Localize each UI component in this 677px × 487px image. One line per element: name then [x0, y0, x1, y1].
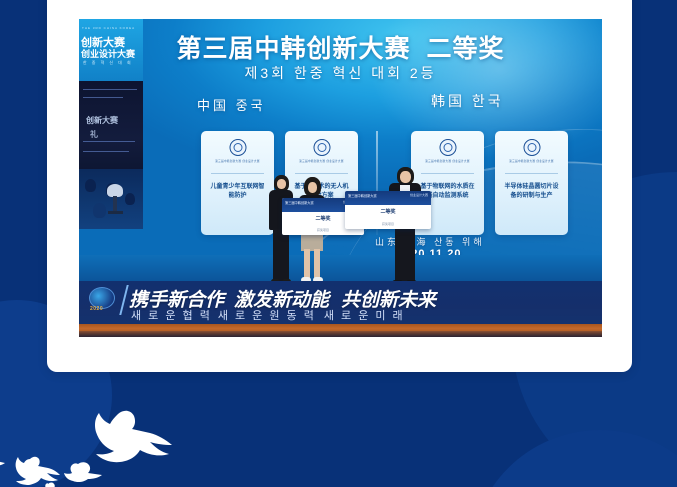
- panel-seal-icon: [229, 139, 246, 156]
- background-circle-right-lower: [470, 430, 677, 487]
- banner-slogan-korean: 새 로 운 협 력새 로 운 원 동 력새 로 운 미 래: [131, 307, 601, 323]
- panel-title: 儿童青少年互联网智能防护: [208, 183, 267, 201]
- panel-seal-caption: 第三届中韩创新大赛 创业设计大赛: [419, 160, 476, 164]
- panel-seal-icon: [523, 139, 540, 156]
- headline-award: 二等奖: [427, 35, 505, 63]
- panel-divider: [211, 173, 264, 174]
- panel-seal-icon: [313, 139, 330, 156]
- banner-slogan-korean-3: 새 로 운 미 래: [324, 310, 405, 322]
- photo-headline: 第三届中韩创新大赛二等奖: [79, 29, 602, 65]
- headline-chinese: 第三届中韩创新大赛: [176, 35, 410, 63]
- panel-seal-icon: [439, 139, 456, 156]
- panel-divider: [421, 173, 474, 174]
- stage-strip-shadow: [79, 331, 602, 337]
- panel-divider: [295, 173, 348, 174]
- logo-year-label: 2020: [90, 306, 103, 312]
- certificate-header-bar: 第三届中韩创新大赛 创业设计大赛: [345, 191, 431, 205]
- banner-slogan-korean-1: 새 로 운 협 력: [131, 310, 212, 322]
- photo-headline-korean: 제3회 한중 혁신 대회 2등: [79, 63, 602, 83]
- award-ceremony-photo[interactable]: THE 3RD CHINA KOREA 创新大赛 创业设计大赛 한 중 혁 신 …: [79, 19, 602, 337]
- award-certificate: 第三届中韩创新大赛 创业设计大赛 二等奖 获奖项目: [345, 191, 431, 229]
- country-label-korea: 韩国 한국: [431, 91, 504, 111]
- certificate-header-right: 创业设计大赛: [410, 193, 428, 197]
- stage-side-screen: 创新大赛 礼: [79, 81, 143, 177]
- panel-seal-caption: 第三届中韩创新大赛 创业设计大赛: [503, 160, 560, 164]
- certificate-header-left: 第三届中韩创新大赛: [348, 193, 377, 198]
- competition-logo-icon: 2020: [89, 287, 119, 317]
- certificate-header-left: 第三届中韩创新大赛: [285, 200, 314, 205]
- flying-doves-graphic: [0, 396, 216, 487]
- panel-seal-caption: 第三届中韩创新大赛 创业设计大赛: [209, 160, 266, 164]
- panel-title: 半导体硅晶圆切片设备的研制与生产: [502, 183, 561, 201]
- certificate-award-text: 二等奖: [345, 208, 431, 215]
- country-label-china: 中国 중국: [197, 95, 266, 114]
- screen-logo-line-1: 创新大赛: [86, 115, 118, 126]
- project-panel: 第三届中韩创新大赛 创业设计大赛 半导体硅晶圆切片设备的研制与生产: [495, 131, 568, 235]
- certificate-sub-text: 获奖项目: [345, 222, 431, 226]
- banner-slogan-korean-2: 새 로 운 원 동 력: [218, 310, 316, 322]
- page-root: THE 3RD CHINA KOREA 创新大赛 创业设计大赛 한 중 혁 신 …: [0, 0, 677, 487]
- stage-spotlight: [107, 184, 129, 224]
- project-panel: 第三届中韩创新大赛 创业设计大赛 儿童青少年互联网智能防护: [201, 131, 274, 235]
- panel-seal-caption: 第三届中韩创新大赛 创业设计大赛: [293, 160, 350, 164]
- screen-logo-line-2: 礼: [90, 129, 98, 140]
- panel-divider: [505, 173, 558, 174]
